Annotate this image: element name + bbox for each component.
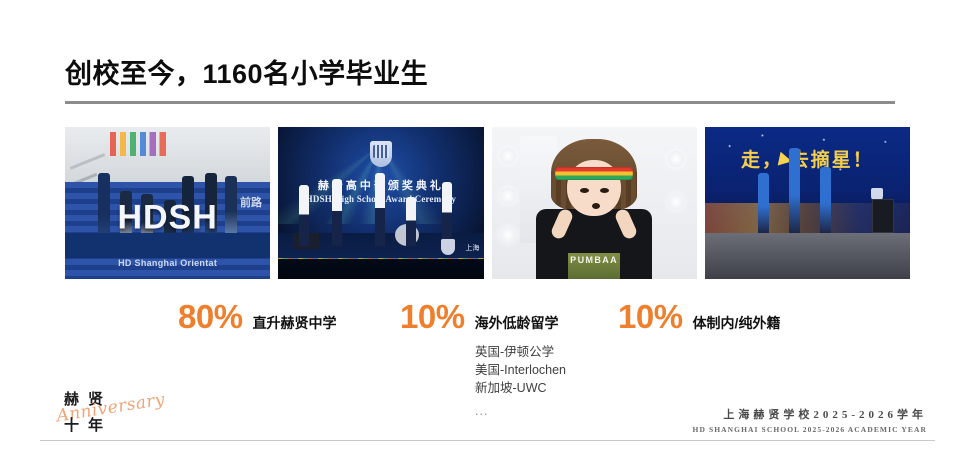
photo1-hdsh-letters: HDSH (117, 199, 217, 238)
stat-item-domestic-international: 10% 体制内/纯外籍 (618, 300, 780, 333)
photo-dance-performance[interactable]: 走， 去摘星！ (705, 127, 910, 279)
footer-text-en: HD SHANGHAI SCHOOL 2025-2026 ACADEMIC YE… (693, 425, 927, 434)
photo1-caption-cn: 前路 (240, 194, 262, 210)
photo1-bottom-band (65, 233, 270, 257)
photo4-dancer (820, 167, 831, 234)
page-title: 创校至今，1160名小学毕业生 (65, 52, 428, 91)
photo1-flags (110, 132, 172, 156)
title-divider (65, 101, 895, 104)
photo2-audience (278, 259, 483, 279)
photo4-dancer (758, 173, 769, 234)
photo3-light-bulb (500, 148, 516, 164)
stat-percent: 80% (178, 300, 243, 333)
stats-row: 80% 直升赫贤中学 10% 海外低龄留学 英国-伊顿公学 美国-Interlo… (0, 300, 975, 400)
photo-student-performer[interactable]: PUMBAA (492, 127, 697, 279)
stat-percent: 10% (400, 300, 465, 333)
stat-label: 体制内/纯外籍 (693, 313, 781, 333)
list-item: 新加坡-UWC (475, 379, 566, 397)
stat-header: 80% 直升赫贤中学 (178, 300, 337, 333)
footer-school-info: 上海赫贤学校2025-2026学年 HD SHANGHAI SCHOOL 202… (693, 406, 927, 434)
photo2-crest-badge (441, 239, 455, 255)
photo2-performer (299, 185, 309, 246)
photo2-school-crest (370, 141, 392, 167)
photo2-performer (442, 182, 452, 246)
photo4-stage-floor (705, 233, 910, 279)
photo2-badge-text: 上海 (465, 243, 479, 253)
list-item: 美国-Interlochen (475, 361, 566, 379)
footer-text-cn: 上海赫贤学校2025-2026学年 (693, 406, 927, 422)
photo4-dancer (789, 148, 800, 233)
photo2-performer (406, 197, 416, 246)
photo3-light-bulb (668, 194, 684, 210)
photo3-rainbow-headband (555, 167, 633, 180)
stat-label: 直升赫贤中学 (253, 313, 337, 333)
photo-award-ceremony[interactable]: 赫贤高中部颁奖典礼 HDSH High School Award Ceremon… (278, 127, 483, 279)
stat-label: 海外低龄留学 (475, 313, 559, 333)
photo2-performer (375, 173, 385, 246)
photo2-performer (332, 179, 342, 246)
photo-graduates-stairs[interactable]: 前路 HDSH HD Shanghai Orientat (65, 127, 270, 279)
stat-school-list: 英国-伊顿公学 美国-Interlochen 新加坡-UWC ... (475, 343, 566, 421)
slide: 创校至今，1160名小学毕业生 前路 HDSH HD Shanghai Orie… (0, 0, 975, 465)
photo1-caption-en: HD Shanghai Orientat (118, 258, 217, 268)
stat-header: 10% 体制内/纯外籍 (618, 300, 780, 333)
photo3-eye (580, 188, 589, 193)
photo4-slogan: 走， 去摘星！ (741, 145, 874, 172)
photo3-shirt-text: PUMBAA (570, 255, 618, 265)
photo-strip: 前路 HDSH HD Shanghai Orientat 赫贤高中部颁奖典礼 H… (65, 127, 910, 279)
photo3-light-bulb (500, 227, 516, 243)
brand-line-2: 十年 (64, 414, 112, 435)
list-item-ellipsis: ... (475, 402, 566, 420)
photo3-eye (600, 188, 609, 193)
photo4-speaker (872, 199, 894, 233)
stat-header: 10% 海外低龄留学 (400, 300, 566, 333)
footer-divider (40, 440, 935, 441)
stat-item-overseas-study: 10% 海外低龄留学 英国-伊顿公学 美国-Interlochen 新加坡-UW… (400, 300, 566, 421)
stat-item-direct-promotion: 80% 直升赫贤中学 (178, 300, 337, 333)
photo3-light-bulb (668, 151, 684, 167)
stat-percent: 10% (618, 300, 683, 333)
brand-logo: 赫贤 Anniversary 十年 (56, 388, 176, 438)
photo3-light-bulb (500, 188, 516, 204)
list-item: 英国-伊顿公学 (475, 343, 566, 361)
